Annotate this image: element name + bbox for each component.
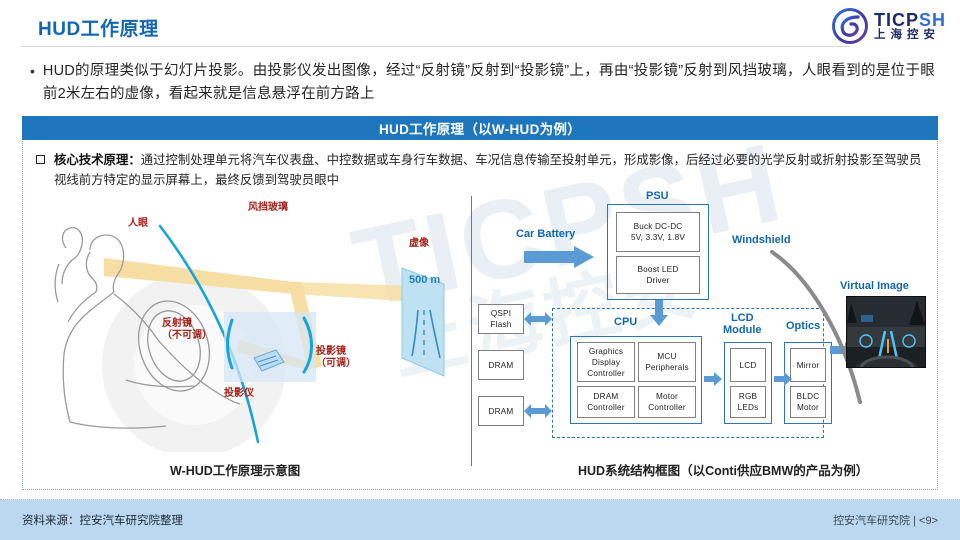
bullet-paragraph: • HUD的原理类似于幻灯片投影。由投影仪发出图像，经过“反射镜”反射到“投影镜…: [30, 60, 935, 106]
box-buck-dcdc: Buck DC-DC 5V, 3.3V, 1.8V: [616, 212, 700, 252]
bullet-text: HUD的原理类似于幻灯片投影。由投影仪发出图像，经过“反射镜”反射到“投影镜”上…: [43, 60, 935, 106]
label-fixed-mirror-line2: （不可调）: [162, 330, 212, 341]
box-qspi-flash: QSPI Flash: [478, 304, 524, 334]
hud-system-block-diagram: Car Battery PSU Buck DC-DC 5V, 3.3V, 1.8…: [474, 190, 938, 456]
box-mcu-line1: MCU: [657, 351, 676, 362]
label-psu: PSU: [646, 190, 669, 202]
label-hud-distance: 500 m: [409, 274, 440, 286]
box-motorc-line1: Motor: [656, 391, 678, 402]
logo-text-cn: 上海控安: [874, 29, 946, 41]
label-windshield-en: Windshield: [732, 234, 791, 246]
slide-root: TICPSH 上海控安 HUD工作原理 TICPSH: [0, 0, 960, 540]
card-banner-title: HUD工作原理（以W-HUD为例）: [22, 116, 938, 140]
box-qspi-line2: Flash: [490, 319, 511, 330]
box-gdc-line3: Controller: [587, 368, 625, 379]
swirl-logo-icon: [832, 8, 868, 44]
label-projector: 投影仪: [224, 388, 254, 400]
label-car-battery: Car Battery: [516, 228, 575, 240]
box-dram-2: DRAM: [478, 396, 524, 426]
label-virtual-image-cn: 虚像: [409, 238, 429, 250]
header-divider: [20, 46, 850, 47]
box-qspi-line1: QSPI: [491, 308, 511, 319]
psu-down-arrow-icon: [650, 300, 668, 326]
box-mcu-line2: Peripherals: [645, 362, 689, 373]
virtual-image-photo: [846, 296, 926, 368]
footer-source: 资料来源：控安汽车研究院整理: [22, 512, 183, 528]
box-boost-line1: Boost LED: [638, 264, 679, 275]
core-principle-body: 通过控制处理单元将汽车仪表盘、中控数据或车身行车数据、车况信息传输至投射单元，形…: [54, 153, 921, 187]
label-virtual-image-en: Virtual Image: [840, 280, 909, 292]
box-dramc-line1: DRAM: [594, 391, 619, 402]
label-fixed-mirror-line1: 反射镜: [162, 318, 192, 329]
label-cpu: CPU: [614, 316, 637, 328]
logo-text: TICPSH 上海控安: [874, 11, 946, 42]
cpu-to-lcd-arrow-icon: [704, 372, 722, 386]
box-gdc-line1: Graphics: [589, 346, 623, 357]
bullet-marker: •: [30, 60, 35, 106]
logo-text-accent: SH: [919, 10, 946, 30]
label-adjustable-mirror-line1: 投影镜: [316, 346, 346, 357]
core-principle-block: 核心技术原理：通过控制处理单元将汽车仪表盘、中控数据或车身行车数据、车况信息传输…: [36, 150, 926, 190]
car-battery-arrow-icon: [524, 246, 596, 268]
core-principle-text: 核心技术原理：通过控制处理单元将汽车仪表盘、中控数据或车身行车数据、车况信息传输…: [54, 150, 926, 190]
brand-logo: TICPSH 上海控安: [832, 8, 946, 44]
box-graphics-display-controller: Graphics Display Controller: [577, 342, 635, 382]
label-adjustable-mirror: 投影镜 （可调）: [316, 346, 356, 370]
box-boost-line2: Driver: [646, 275, 669, 286]
box-motorc-line2: Controller: [648, 402, 686, 413]
core-principle-label: 核心技术原理：: [54, 153, 141, 167]
dram-bidir-arrow-icon: [524, 404, 552, 418]
label-fixed-mirror: 反射镜 （不可调）: [162, 318, 212, 342]
box-dram-1: DRAM: [478, 350, 524, 380]
box-boost-led-driver: Boost LED Driver: [616, 256, 700, 294]
w-hud-principle-illustration: 人眼 风挡玻璃 虚像 500 m 反射镜 （不可调） 投影镜 （可调） 投影仪: [26, 190, 466, 452]
left-figure-caption: W-HUD工作原理示意图: [170, 460, 300, 479]
page-title: HUD工作原理: [38, 14, 159, 41]
footer-page-info: 控安汽车研究院 | <9>: [833, 512, 938, 528]
label-windshield-cn: 风挡玻璃: [248, 202, 288, 214]
box-mcu-peripherals: MCU Peripherals: [638, 342, 696, 382]
box-buck-line1: Buck DC-DC: [634, 221, 683, 232]
footer-bar: 资料来源：控安汽车研究院整理 控安汽车研究院 | <9>: [0, 500, 960, 540]
square-bullet-icon: [36, 155, 45, 164]
box-buck-line2: 5V, 3.3V, 1.8V: [631, 232, 685, 243]
box-motor-controller: Motor Controller: [638, 386, 696, 418]
logo-text-primary: TICP: [874, 10, 919, 30]
box-gdc-line2: Display: [592, 357, 620, 368]
label-adjustable-mirror-line2: （可调）: [316, 358, 356, 369]
right-figure-caption: HUD系统结构框图（以Conti供应BMW的产品为例）: [578, 460, 868, 479]
box-dram-controller: DRAM Controller: [577, 386, 635, 418]
label-eye: 人眼: [128, 218, 148, 230]
box-dramc-line2: Controller: [587, 402, 625, 413]
qspi-bidir-arrow-icon: [524, 312, 552, 326]
figure-divider: [471, 196, 472, 466]
left-figure-svg: [26, 190, 466, 452]
